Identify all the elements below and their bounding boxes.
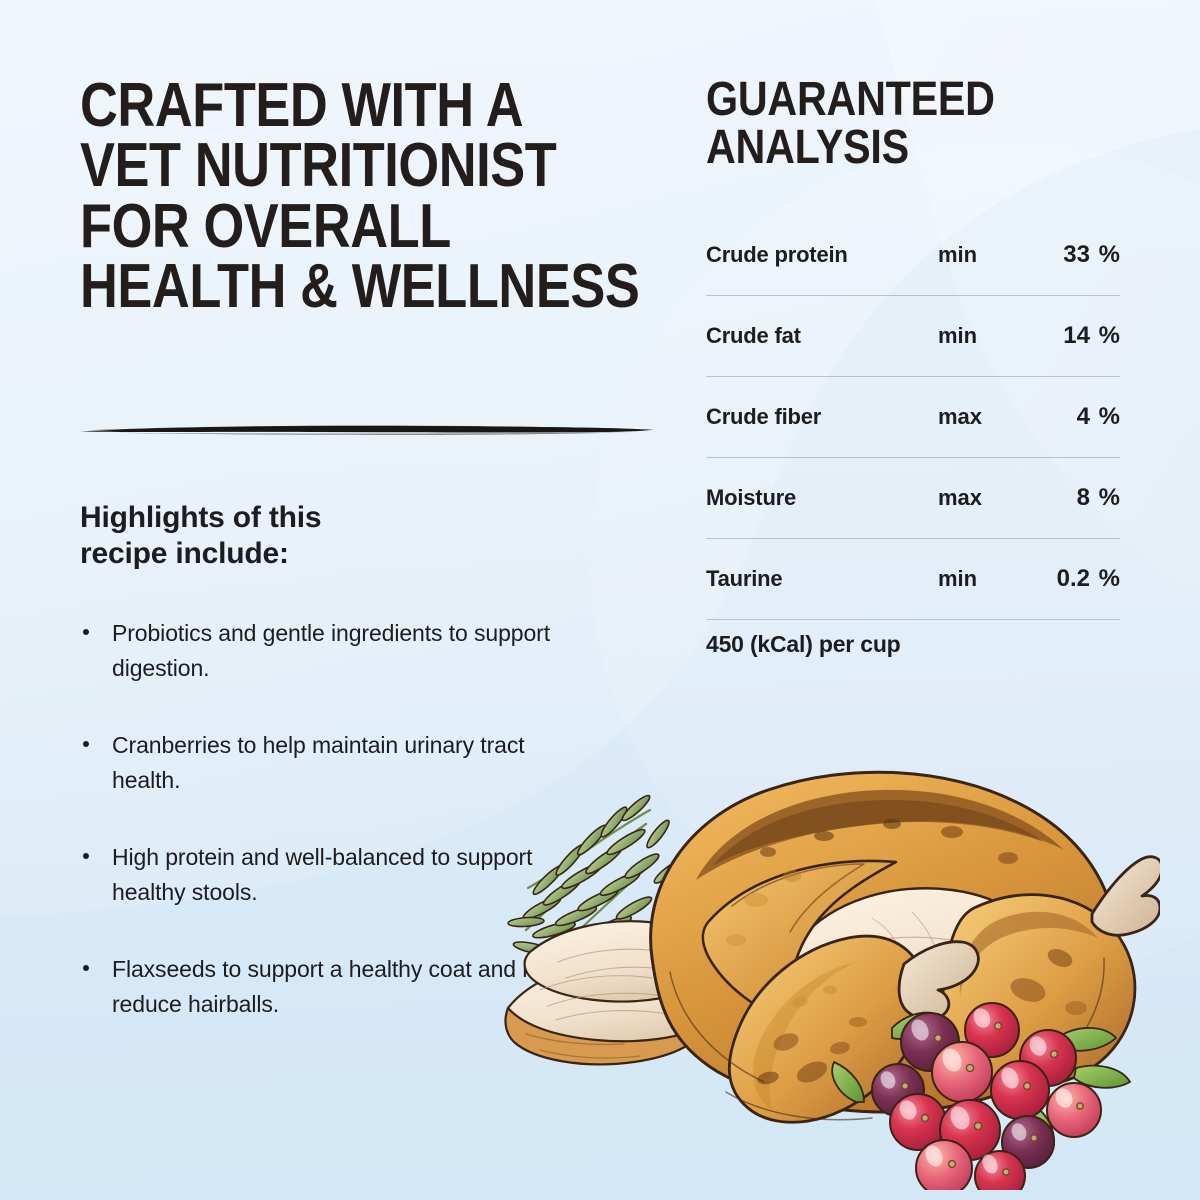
nutrient-label: Crude fiber	[706, 378, 938, 430]
table-row: Crude fiber max 4 %	[706, 377, 1120, 458]
nutrient-label: Taurine	[706, 540, 938, 592]
page-headline: CRAFTED WITH A VET NUTRITIONIST FOR OVER…	[80, 76, 660, 318]
guaranteed-analysis-title: GUARANTEED ANALYSIS	[706, 76, 1119, 172]
nutrient-unit: %	[1090, 377, 1120, 431]
list-item-text: High protein and well-balanced to suppor…	[112, 844, 532, 905]
nutrient-qualifier: min	[938, 297, 1034, 349]
ga-title-line-1: GUARANTEED	[706, 73, 995, 126]
headline-line-2: VET NUTRITIONIST	[80, 131, 556, 200]
calorie-note: 450 (kCal) per cup	[706, 631, 901, 658]
infographic-page: CRAFTED WITH A VET NUTRITIONIST FOR OVER…	[0, 0, 1200, 1200]
nutrient-value: 33	[1034, 215, 1090, 269]
guaranteed-analysis-table: Crude protein min 33 % Crude fat min 14 …	[706, 215, 1120, 620]
roast-turkey-illustration	[500, 690, 1160, 1190]
nutrient-value: 14	[1034, 296, 1090, 350]
table-row: Moisture max 8 %	[706, 458, 1120, 539]
table-row: Crude protein min 33 %	[706, 215, 1120, 296]
nutrient-label: Moisture	[706, 459, 938, 511]
nutrient-qualifier: min	[938, 540, 1034, 592]
table-row: Crude fat min 14 %	[706, 296, 1120, 377]
list-item-text: Flaxseeds to support a healthy coat and …	[112, 956, 565, 1017]
nutrient-value: 0.2	[1034, 539, 1090, 593]
bullet-dot-icon	[83, 853, 89, 859]
ga-title-line-2: ANALYSIS	[706, 121, 909, 174]
headline-line-4: HEALTH & WELLNESS	[80, 252, 639, 321]
nutrient-value: 8	[1034, 458, 1090, 512]
highlights-heading-line-1: Highlights of this	[80, 501, 321, 534]
list-item: Probiotics and gentle ingredients to sup…	[80, 616, 580, 686]
headline-underline	[78, 420, 656, 438]
nutrient-label: Crude protein	[706, 216, 938, 268]
nutrient-label: Crude fat	[706, 297, 938, 349]
nutrient-unit: %	[1090, 215, 1120, 269]
left-column: CRAFTED WITH A VET NUTRITIONIST FOR OVER…	[80, 76, 660, 318]
nutrient-value: 4	[1034, 377, 1090, 431]
list-item-text: Cranberries to help maintain urinary tra…	[112, 732, 525, 793]
table-row: Taurine min 0.2 %	[706, 539, 1120, 620]
nutrient-qualifier: min	[938, 216, 1034, 268]
bullet-dot-icon	[83, 965, 89, 971]
bullet-dot-icon	[83, 741, 89, 747]
nutrient-unit: %	[1090, 296, 1120, 350]
nutrient-unit: %	[1090, 458, 1120, 512]
highlights-heading: Highlights of this recipe include:	[80, 500, 321, 572]
nutrient-qualifier: max	[938, 459, 1034, 511]
list-item-text: Probiotics and gentle ingredients to sup…	[112, 620, 550, 681]
bullet-dot-icon	[83, 629, 89, 635]
headline-line-3: FOR OVERALL	[80, 192, 451, 261]
nutrient-qualifier: max	[938, 378, 1034, 430]
right-column: GUARANTEED ANALYSIS Crude protein min 33…	[706, 76, 1120, 172]
highlights-heading-line-2: recipe include:	[80, 537, 289, 570]
nutrient-unit: %	[1090, 539, 1120, 593]
headline-line-1: CRAFTED WITH A	[80, 71, 523, 140]
